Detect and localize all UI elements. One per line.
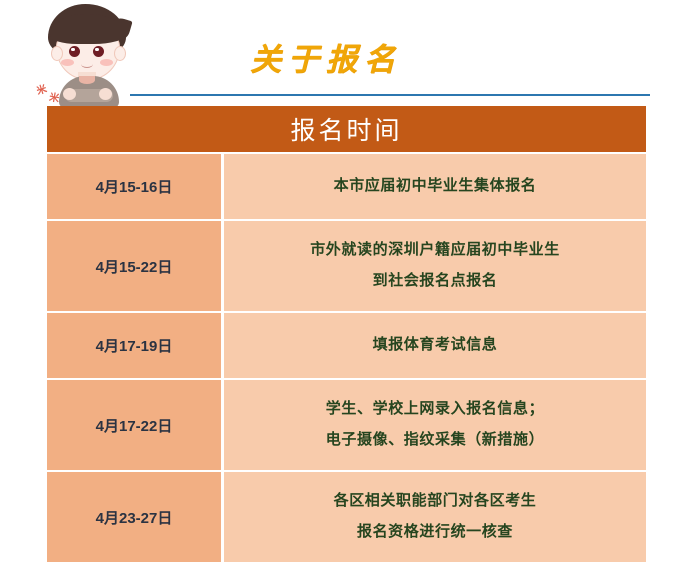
header-divider (130, 94, 650, 96)
mascot-ear-left (51, 46, 63, 61)
description-cell: 学生、学校上网录入报名信息； 电子摄像、指纹采集（新措施） (224, 380, 646, 472)
registration-schedule-table: 报名时间 4月15-16日 本市应届初中毕业生集体报名 4月15-22日 市外就… (47, 106, 646, 564)
cartoon-boy-icon: 米 米 (36, 2, 140, 106)
description-line: 学生、学校上网录入报名信息； (234, 394, 636, 425)
description-cell: 本市应届初中毕业生集体报名 (224, 154, 646, 221)
sparkle-icon-right: 米 (48, 93, 60, 105)
mascot-eye-right (93, 46, 104, 57)
date-cell: 4月17-22日 (47, 380, 224, 472)
description-line: 电子摄像、指纹采集（新措施） (234, 425, 636, 456)
mascot-cheek-left (61, 59, 74, 66)
table-row: 4月15-22日 市外就读的深圳户籍应届初中毕业生 到社会报名点报名 (47, 221, 646, 313)
description-line: 本市应届初中毕业生集体报名 (234, 171, 636, 202)
table-body: 4月15-16日 本市应届初中毕业生集体报名 4月15-22日 市外就读的深圳户… (47, 154, 646, 564)
table-header-row: 报名时间 (47, 106, 646, 154)
mascot-hand-left (63, 88, 76, 100)
table-row: 4月17-22日 学生、学校上网录入报名信息； 电子摄像、指纹采集（新措施） (47, 380, 646, 472)
mascot-mouth (81, 60, 93, 68)
sparkle-icon-left: 米 (36, 85, 49, 98)
description-cell: 各区相关职能部门对各区考生 报名资格进行统一核查 (224, 472, 646, 564)
date-cell: 4月17-19日 (47, 313, 224, 380)
description-line: 市外就读的深圳户籍应届初中毕业生 (234, 235, 636, 266)
table-row: 4月17-19日 填报体育考试信息 (47, 313, 646, 380)
mascot-hand-right (99, 88, 112, 100)
mascot-cheek-right (100, 59, 113, 66)
date-cell: 4月15-16日 (47, 154, 224, 221)
date-cell: 4月23-27日 (47, 472, 224, 564)
description-line: 到社会报名点报名 (234, 266, 636, 297)
description-cell: 填报体育考试信息 (224, 313, 646, 380)
table-caption: 报名时间 (47, 106, 646, 154)
table-row: 4月23-27日 各区相关职能部门对各区考生 报名资格进行统一核查 (47, 472, 646, 564)
table-header: 报名时间 (47, 106, 646, 154)
description-cell: 市外就读的深圳户籍应届初中毕业生 到社会报名点报名 (224, 221, 646, 313)
mascot-eye-left (69, 46, 80, 57)
mascot-collar (79, 76, 95, 84)
date-cell: 4月15-22日 (47, 221, 224, 313)
mascot-ear-right (114, 46, 126, 61)
description-line: 报名资格进行统一核查 (234, 517, 636, 548)
page-header: 米 米 关于报名 (0, 0, 692, 106)
description-line: 填报体育考试信息 (234, 330, 636, 361)
description-line: 各区相关职能部门对各区考生 (234, 486, 636, 517)
table-row: 4月15-16日 本市应届初中毕业生集体报名 (47, 154, 646, 221)
page-title: 关于报名 (250, 34, 402, 79)
